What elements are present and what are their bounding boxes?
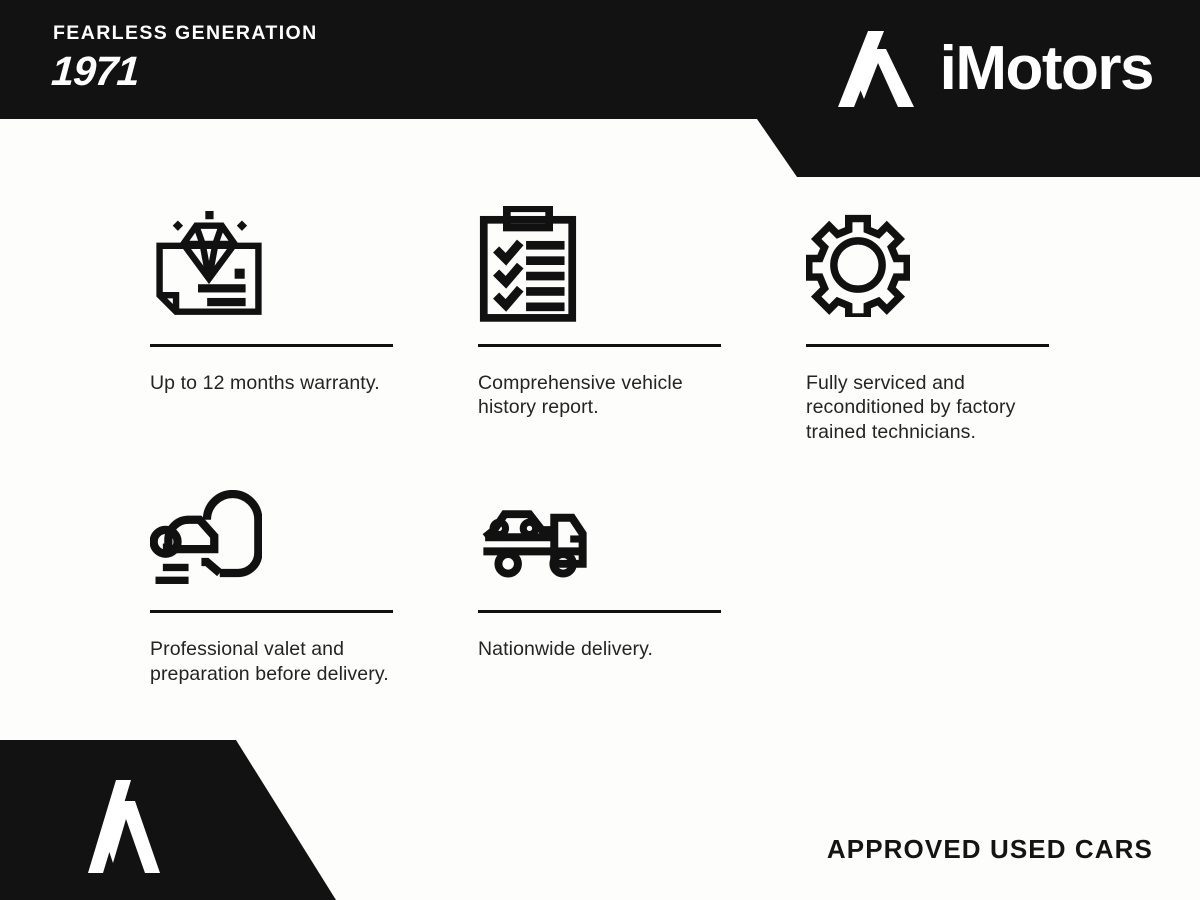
brand-tagline-block: FEARLESS GENERATION 1971 (53, 24, 473, 92)
brand-lockup[interactable]: iMotors (834, 27, 1153, 111)
feature-divider (150, 610, 393, 613)
header-bar: FEARLESS GENERATION 1971 iMotors (0, 0, 1200, 180)
car-transporter-truck-icon (478, 481, 746, 596)
feature-label: Nationwide delivery. (478, 637, 723, 662)
feature-row: Up to 12 months warranty. (150, 200, 1090, 445)
feature-label: Up to 12 months warranty. (150, 371, 395, 396)
feature-card-servicing: Fully serviced and reconditioned by fact… (806, 200, 1134, 445)
tagline-text: FEARLESS GENERATION (53, 24, 473, 44)
promotional-banner: FEARLESS GENERATION 1971 iMotors (0, 0, 1200, 900)
feature-label: Professional valet and preparation befor… (150, 637, 395, 687)
gear-cog-icon (806, 200, 1074, 330)
brand-name: iMotors (940, 38, 1153, 100)
clipboard-checklist-icon (478, 200, 746, 330)
feature-divider (150, 344, 393, 347)
footer-shape (0, 740, 340, 900)
feature-card-warranty: Up to 12 months warranty. (150, 200, 478, 395)
feature-label: Fully serviced and reconditioned by fact… (806, 371, 1051, 446)
footer-tagline: APPROVED USED CARS (827, 836, 1153, 862)
imotors-chevron-icon (834, 27, 918, 111)
warranty-certificate-diamond-icon (150, 200, 418, 330)
feature-grid: Up to 12 months warranty. (150, 200, 1090, 687)
feature-label: Comprehensive vehicle history report. (478, 371, 723, 421)
feature-row: Professional valet and preparation befor… (150, 481, 1090, 686)
imotors-chevron-icon (85, 777, 163, 877)
feature-card-delivery: Nationwide delivery. (478, 481, 806, 661)
feature-divider (478, 610, 721, 613)
feature-divider (806, 344, 1049, 347)
feature-divider (478, 344, 721, 347)
feature-card-history-report: Comprehensive vehicle history report. (478, 200, 806, 420)
vacuum-cleaner-icon (150, 481, 418, 596)
established-year-mark: 1971 (50, 51, 473, 92)
feature-card-valet: Professional valet and preparation befor… (150, 481, 478, 686)
